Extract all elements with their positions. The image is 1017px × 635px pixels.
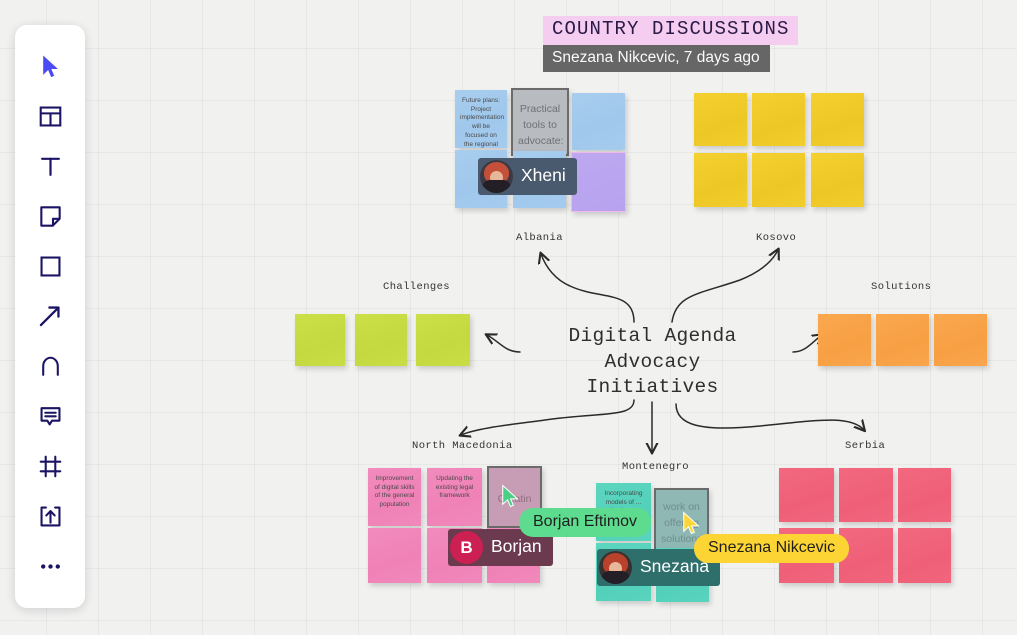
cluster-label-serbia: Serbia bbox=[845, 440, 885, 452]
left-toolbar[interactable] bbox=[15, 25, 85, 608]
cluster-label-challenges: Challenges bbox=[383, 281, 450, 293]
cluster-label-north-macedonia: North Macedonia bbox=[412, 440, 513, 452]
presence-badge[interactable]: Xheni bbox=[478, 158, 577, 195]
comment-tool[interactable] bbox=[25, 391, 75, 441]
sticky-note[interactable]: Practical tools to advocate: 1. bbox=[511, 88, 569, 156]
center-topic-line-1: Digital Agenda bbox=[530, 324, 775, 350]
shape-tool[interactable] bbox=[25, 241, 75, 291]
cluster-label-solutions: Solutions bbox=[871, 281, 931, 293]
remote-cursor-label: Borjan Eftimov bbox=[519, 508, 651, 537]
presence-name: Borjan bbox=[491, 538, 542, 558]
board-author-timestamp: Snezana Nikcevic, 7 days ago bbox=[543, 45, 770, 72]
sticky-note[interactable] bbox=[572, 93, 625, 150]
sticky-note[interactable] bbox=[898, 468, 951, 522]
board-title-block: COUNTRY DISCUSSIONS Snezana Nikcevic, 7 … bbox=[543, 16, 798, 72]
sticky-note[interactable] bbox=[752, 153, 805, 207]
sticky-note[interactable]: Improvement of digital skills of the gen… bbox=[368, 468, 421, 526]
page-title: COUNTRY DISCUSSIONS bbox=[543, 16, 798, 45]
sticky-note[interactable] bbox=[779, 468, 834, 522]
center-topic-text: Digital Agenda Advocacy Initiatives bbox=[530, 324, 775, 401]
avatar bbox=[480, 160, 513, 193]
sticky-note[interactable] bbox=[876, 314, 929, 366]
sticky-note[interactable] bbox=[355, 314, 407, 366]
sticky-note[interactable] bbox=[694, 93, 747, 146]
sticky-note[interactable] bbox=[752, 93, 805, 146]
cluster-label-kosovo: Kosovo bbox=[756, 232, 796, 244]
arrow-connector-tool[interactable] bbox=[25, 291, 75, 341]
frame-tool[interactable] bbox=[25, 441, 75, 491]
sticky-note[interactable] bbox=[898, 528, 951, 583]
sticky-note[interactable]: Future plans: Project implementation wil… bbox=[455, 90, 507, 148]
sticky-note-tool[interactable] bbox=[25, 191, 75, 241]
sticky-note[interactable]: Updating the existing legal framework bbox=[427, 468, 482, 526]
presence-name: Snezana bbox=[640, 558, 709, 578]
select-tool[interactable] bbox=[25, 41, 75, 91]
sticky-note[interactable] bbox=[934, 314, 987, 366]
avatar bbox=[599, 551, 632, 584]
sticky-note[interactable] bbox=[811, 153, 864, 207]
layout-template-tool[interactable] bbox=[25, 91, 75, 141]
sticky-note[interactable] bbox=[571, 152, 626, 212]
avatar: B bbox=[450, 531, 483, 564]
sticky-note[interactable] bbox=[818, 314, 871, 366]
cluster-label-albania: Albania bbox=[516, 232, 563, 244]
remote-cursor-arrow-icon bbox=[500, 484, 522, 515]
upload-tool[interactable] bbox=[25, 491, 75, 541]
presence-name: Xheni bbox=[521, 167, 566, 187]
center-topic-line-2: Advocacy bbox=[530, 350, 775, 376]
sticky-note[interactable] bbox=[694, 153, 747, 207]
sticky-note[interactable] bbox=[368, 528, 421, 583]
text-tool[interactable] bbox=[25, 141, 75, 191]
sticky-note[interactable] bbox=[416, 314, 470, 366]
remote-cursor-label: Snezana Nikcevic bbox=[694, 534, 849, 563]
more-tools-button[interactable] bbox=[25, 541, 75, 591]
sticky-note[interactable] bbox=[295, 314, 345, 366]
sticky-note[interactable] bbox=[839, 468, 893, 522]
pen-tool[interactable] bbox=[25, 341, 75, 391]
sticky-note[interactable] bbox=[811, 93, 864, 146]
cluster-label-montenegro: Montenegro bbox=[622, 461, 689, 473]
center-topic-line-3: Initiatives bbox=[530, 375, 775, 401]
